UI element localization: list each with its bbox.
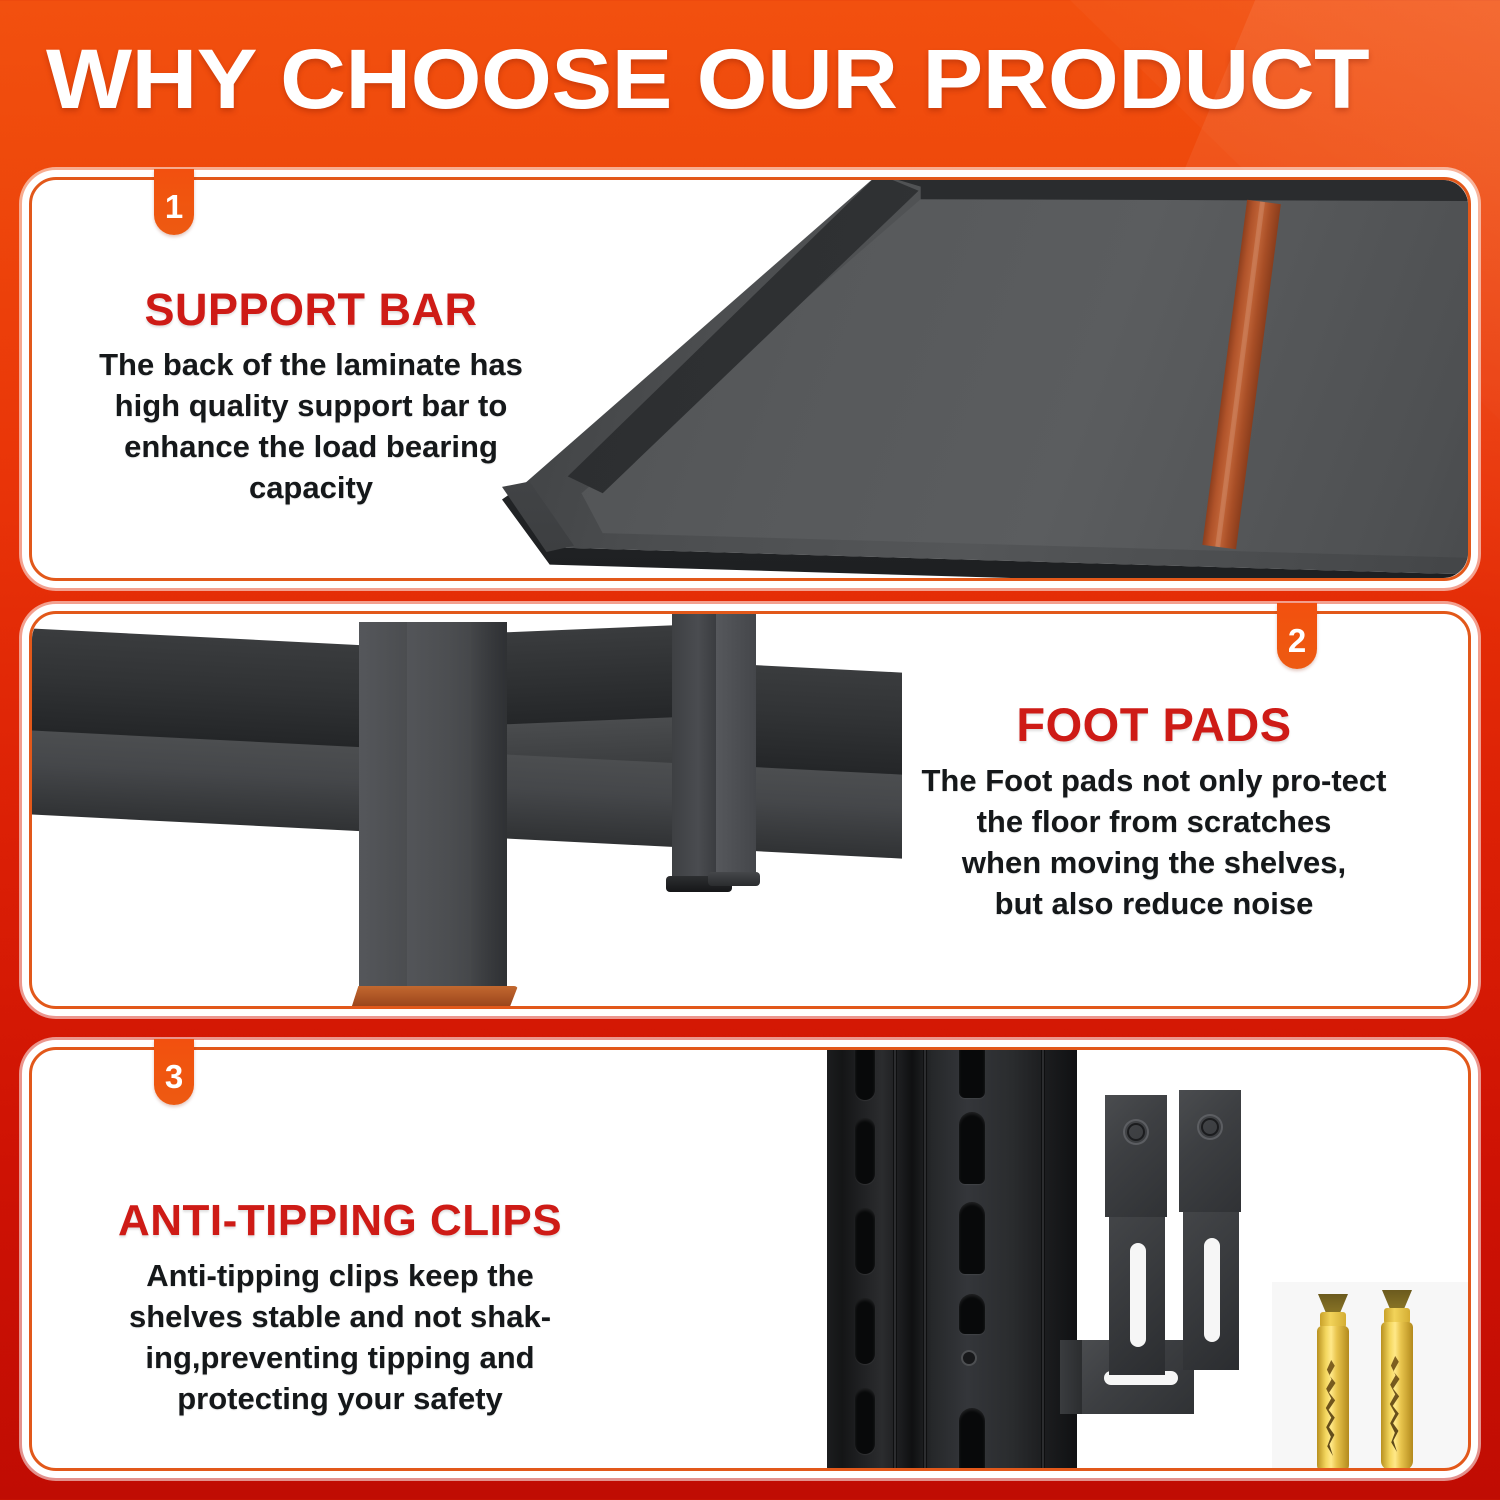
clip-1-upper-plate <box>1105 1095 1167 1217</box>
feature-card-anti-tipping-clips: ANTI-TIPPING CLIPS Anti-tipping clips ke… <box>22 1040 1478 1478</box>
feature-badge-2: 2 <box>1277 603 1317 669</box>
clip-1-lower-plate <box>1109 1217 1165 1375</box>
feature-1-text-block: SUPPORT BAR The back of the laminate has… <box>66 286 556 509</box>
post-rivet <box>961 1350 977 1366</box>
feature-2-body-line-3: when moving the shelves, <box>864 843 1444 884</box>
post-keyhole-r2 <box>959 1112 985 1184</box>
post-keyhole-l1 <box>855 1050 875 1100</box>
post-keyhole-l4 <box>855 1298 875 1364</box>
feature-3-body: Anti-tipping clips keep the shelves stab… <box>60 1256 620 1420</box>
feature-2-body: The Foot pads not only pro-tect the floo… <box>864 761 1444 925</box>
feature-2-text-block: FOOT PADS The Foot pads not only pro-tec… <box>864 700 1444 925</box>
clip-2-slot <box>1204 1238 1220 1342</box>
page-title: WHY CHOOSE OUR PRODUCT <box>46 33 1500 125</box>
shelf-leg-front <box>359 622 507 992</box>
wall-anchor-1 <box>1315 1294 1351 1468</box>
feature-card-foot-pads: FOOT PADS The Foot pads not only pro-tec… <box>22 604 1478 1016</box>
foot-pad-back-secondary <box>708 872 760 886</box>
feature-3-title: ANTI-TIPPING CLIPS <box>60 1198 620 1244</box>
clip-1-slot <box>1130 1243 1146 1347</box>
feature-card-support-bar: SUPPORT BAR The back of the laminate has… <box>22 170 1478 588</box>
post-groove-right <box>1041 1050 1045 1468</box>
feature-3-text-block: ANTI-TIPPING CLIPS Anti-tipping clips ke… <box>60 1198 620 1420</box>
feature-card-2-content: FOOT PADS The Foot pads not only pro-tec… <box>32 614 1468 1006</box>
feature-3-body-line-4: protecting your safety <box>60 1379 620 1420</box>
post-keyhole-r1 <box>959 1050 985 1098</box>
feature-1-title: SUPPORT BAR <box>66 286 556 333</box>
shelf-leg-back-secondary <box>716 614 756 882</box>
post-keyhole-l2 <box>855 1118 875 1184</box>
feature-1-body-line-2: high quality support bar to <box>66 386 556 427</box>
anchor-1-body <box>1317 1326 1349 1468</box>
feature-2-body-line-4: but also reduce noise <box>864 884 1444 925</box>
feature-1-body-line-4: capacity <box>66 468 556 509</box>
feature-card-3-content: ANTI-TIPPING CLIPS Anti-tipping clips ke… <box>32 1050 1468 1468</box>
post-keyhole-l3 <box>855 1208 875 1274</box>
feature-2-title: FOOT PADS <box>864 700 1444 749</box>
feature-3-body-line-2: shelves stable and not shak- <box>60 1297 620 1338</box>
feature-badge-1: 1 <box>154 169 194 235</box>
anchor-1-head <box>1318 1294 1348 1314</box>
anchors-backdrop <box>1272 1282 1468 1468</box>
feature-badge-3: 3 <box>154 1039 194 1105</box>
wall-anchor-2 <box>1379 1290 1415 1468</box>
post-keyhole-l5 <box>855 1388 875 1454</box>
feature-2-body-line-2: the floor from scratches <box>864 802 1444 843</box>
feature-card-1-content: SUPPORT BAR The back of the laminate has… <box>32 180 1468 578</box>
feature-3-body-line-1: Anti-tipping clips keep the <box>60 1256 620 1297</box>
leg-highlight <box>359 622 407 992</box>
post-keyhole-r3 <box>959 1202 985 1274</box>
upright-post <box>827 1050 1077 1468</box>
anchor-2-head <box>1382 1290 1412 1310</box>
feature-1-body-line-3: enhance the load bearing <box>66 427 556 468</box>
post-keyhole-r5 <box>959 1408 985 1468</box>
post-keyhole-r4 <box>959 1294 985 1334</box>
feature-3-body-line-3: ing,preventing tipping and <box>60 1338 620 1379</box>
clip-2-lower-plate <box>1183 1212 1239 1370</box>
foot-pad-front <box>350 986 518 1006</box>
clip-1-screw-hole <box>1125 1121 1147 1143</box>
clip-2-upper-plate <box>1179 1090 1241 1212</box>
post-groove-mid <box>923 1050 927 1468</box>
leg-shadow <box>471 622 507 992</box>
anti-tipping-clip-1 <box>1105 1095 1167 1375</box>
feature-2-body-line-1: The Foot pads not only pro-tect <box>864 761 1444 802</box>
mounted-clip-flange <box>1060 1340 1084 1414</box>
post-groove-left <box>893 1050 897 1468</box>
shelf-laminate-graphic <box>502 180 1468 578</box>
feature-1-body-line-1: The back of the laminate has <box>66 345 556 386</box>
clip-2-screw-hole <box>1199 1116 1221 1138</box>
anti-tipping-clip-2 <box>1179 1090 1241 1370</box>
feature-1-body: The back of the laminate has high qualit… <box>66 345 556 509</box>
